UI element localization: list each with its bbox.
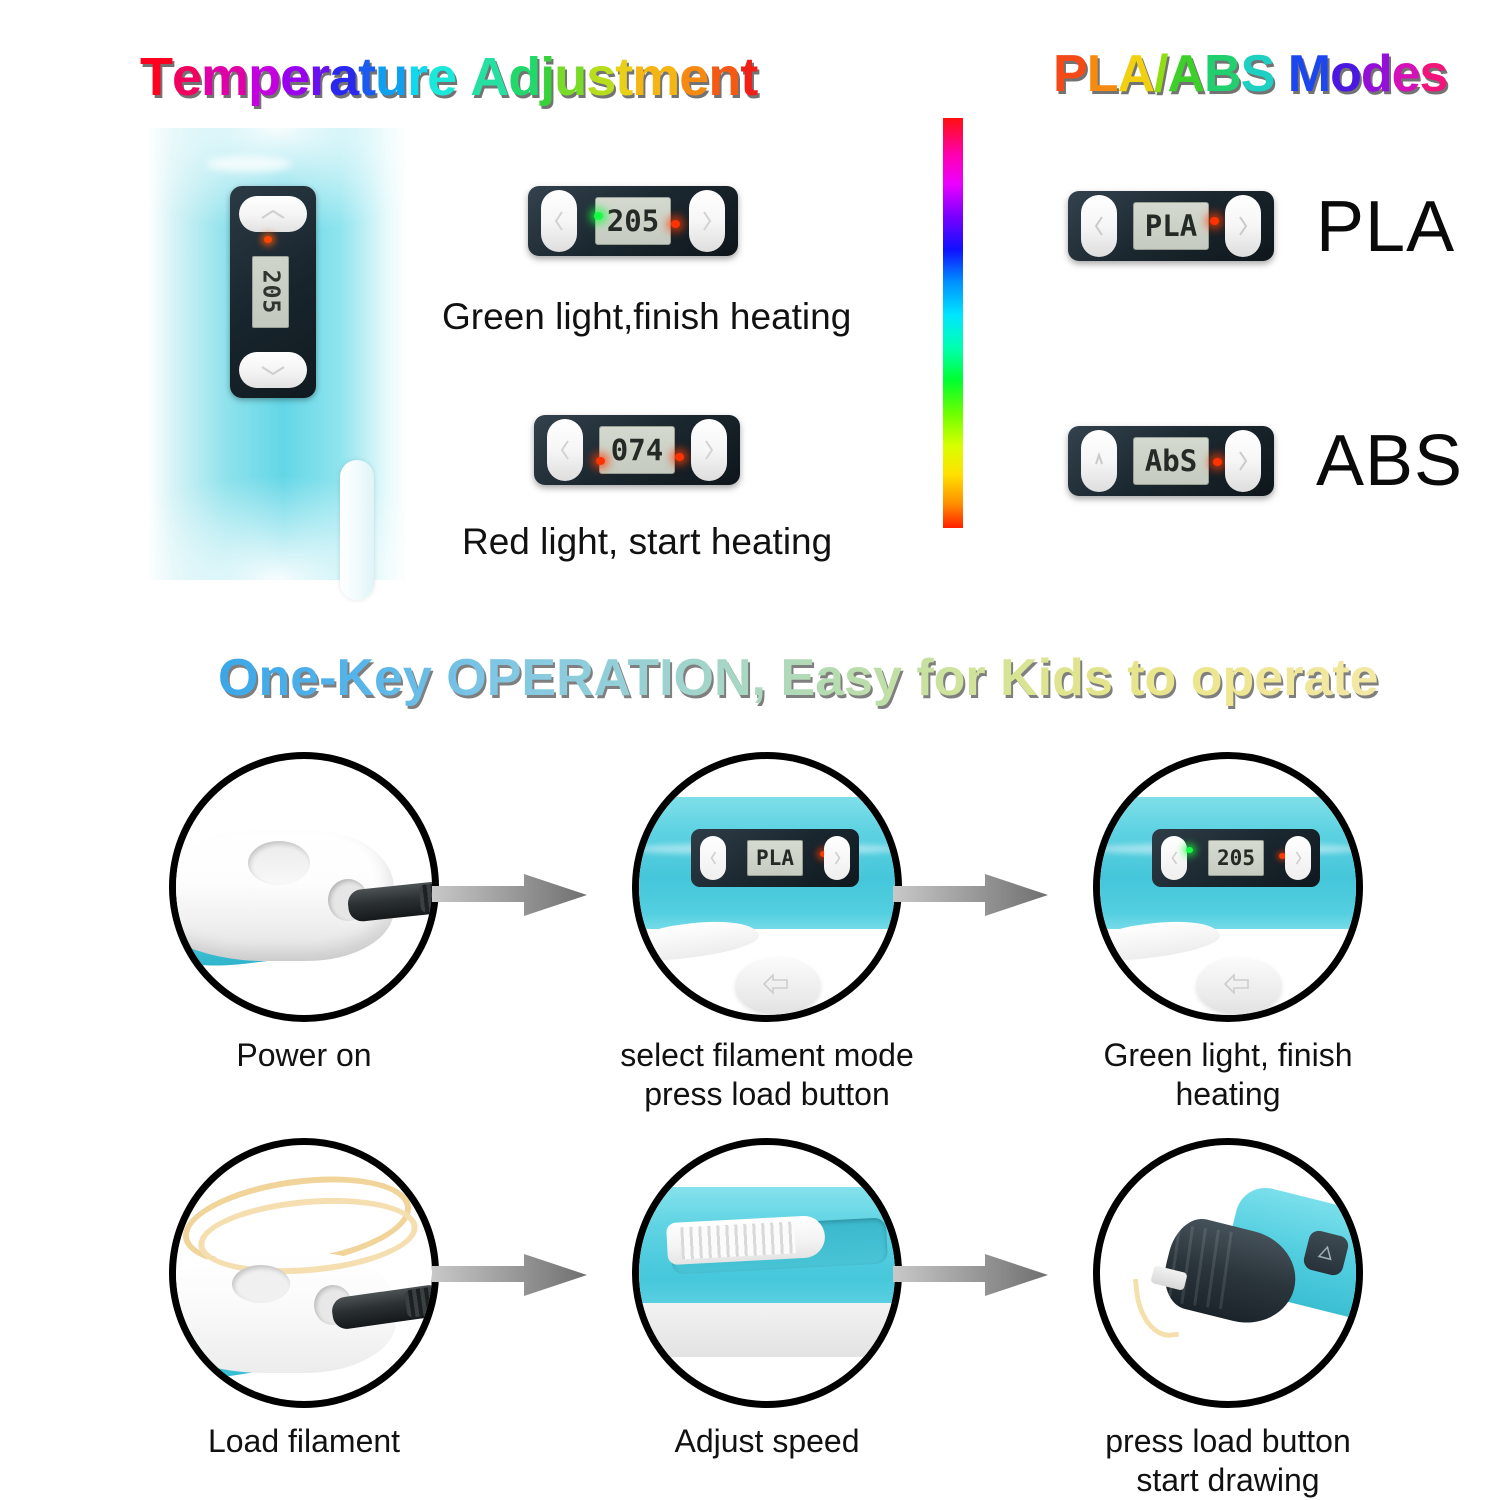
lcd-value-abs: AbS [1133,437,1209,485]
led-red-074-left [596,457,605,465]
temp-down-button[interactable] [239,352,307,388]
title-letter: A [1117,48,1154,100]
chevron-up-icon [260,208,286,221]
hero-control-panel: 205 [230,186,316,398]
pen-dimple [232,1265,290,1303]
load-button-left[interactable] [541,190,577,252]
pen-control-panel: PLA [691,829,859,887]
step-2-image: PLA [632,752,902,1022]
title-letter [1274,48,1287,100]
chevron-right-icon [833,850,842,866]
title-letter: e [427,50,456,104]
step-6-caption: press load button start drawing [1078,1422,1378,1500]
lcd-value-pla: PLA [1133,202,1209,250]
step-3-caption: Green light, finish heating [1078,1036,1378,1114]
lcd-panel-074: 074 [534,415,740,485]
flow-arrow-4 [893,1252,1048,1298]
led-red-074-right [675,453,684,461]
load-button[interactable] [735,957,821,1015]
title-letter: A [1167,48,1204,100]
flow-arrow-3 [432,1252,587,1298]
pen-white-underside [632,1303,902,1357]
title-letter: u [375,50,407,104]
hero-lcd-value: 205 [258,270,284,315]
title-letter: p [248,50,280,104]
hero-lcd-screen: 205 [252,256,289,328]
step-1-image [169,752,439,1022]
title-letter: S [1241,48,1275,100]
infographic-page: Temperature Adjustment PLA/ABS Modes 205 [0,0,1500,1500]
title-letter: A [470,50,508,104]
step-6-image [1093,1138,1363,1408]
title-letter: e [280,50,309,104]
load-arrow-icon [1218,971,1260,1001]
hero-side-button [340,460,374,600]
lcd-value-step2: PLA [747,840,803,876]
step-2-caption: select filament mode press load button [617,1036,917,1114]
title-letter: B [1204,48,1241,100]
caption-red-light: Red light, start heating [462,521,832,563]
pen-control-panel: 205 [1152,829,1320,887]
caption-green-light: Green light,finish heating [442,296,851,338]
temp-up-button[interactable] [239,196,307,232]
lcd-value-step3: 205 [1208,840,1264,876]
mode-next-button[interactable] [824,836,850,880]
step-3-image: 205 [1093,752,1363,1022]
title-letter: t [358,50,375,104]
flow-arrow-2 [893,872,1048,918]
step-4-image [169,1138,439,1408]
operation-section-title: One-Key OPERATION, Easy for Kids to oper… [218,648,1379,708]
step-start-drawing: press load button start drawing [1078,1138,1378,1500]
status-led-red [264,236,272,243]
chevron-right-icon [1237,215,1249,237]
title-letter: a [329,50,358,104]
mode-label-pla: PLA [1316,186,1455,268]
extruded-filament [1133,1275,1179,1341]
title-letter: e [172,50,201,104]
title-letter [456,50,470,104]
load-arrow-icon [757,971,799,1001]
chevron-left-icon [1093,215,1105,237]
title-letter: t [740,50,757,104]
title-letter: t [615,50,632,104]
title-letter: o [1330,48,1361,100]
load-button-left[interactable] [547,419,583,481]
title-letter: e [679,50,708,104]
chevron-up-icon [1093,450,1105,472]
load-button[interactable] [1196,957,1282,1015]
chevron-left-icon [709,850,718,866]
mode-prev-button[interactable] [1081,195,1117,257]
load-button-left[interactable] [1161,836,1187,880]
step-4-caption: Load filament [154,1422,454,1461]
title-letter: m [201,50,248,104]
led-green-205 [594,212,603,220]
speed-slider-handle[interactable] [666,1215,826,1265]
title-letter: s [1420,48,1448,100]
step-1-caption: Power on [154,1036,454,1075]
step-green-light: 205 Green light, finish heating [1078,752,1378,1114]
chevron-left-icon [559,439,571,461]
step-5-caption: Adjust speed [617,1422,917,1461]
title-letter: s [586,50,615,104]
chevron-down-icon [260,364,286,377]
title-letter: u [554,50,586,104]
title-letter: / [1154,48,1167,100]
title-letter: d [508,50,540,104]
lcd-value-074: 074 [599,426,675,474]
unload-button-right[interactable] [691,419,727,481]
title-letter: L [1087,48,1118,100]
lcd-panel-205: 205 [528,186,738,256]
title-letter: m [632,50,679,104]
step-5-image [632,1138,902,1408]
title-letter: T [140,50,172,104]
flow-arrow-1 [432,872,587,918]
temperature-section-title: Temperature Adjustment [140,50,757,104]
hero-highlight [206,156,292,172]
mode-next-button[interactable] [1225,195,1261,257]
led-red-205 [671,220,680,228]
title-letter: d [1361,48,1392,100]
chevron-right-icon [703,439,715,461]
step-load-filament: Load filament [154,1138,454,1461]
unload-button-right[interactable] [689,190,725,252]
chevron-left-icon [553,210,565,232]
unload-button-right[interactable] [1285,836,1311,880]
title-letter: n [708,50,740,104]
rainbow-divider-bar [943,118,963,528]
mode-prev-button[interactable] [700,836,726,880]
step-adjust-speed: Adjust speed [617,1138,917,1461]
chevron-right-icon [701,210,713,232]
mode-prev-button[interactable] [1081,430,1117,492]
title-letter: r [407,50,427,104]
lcd-panel-pla: PLA [1068,191,1274,261]
step-select-mode: PLA select filament mode press load but [617,752,917,1114]
led-red-pla [1210,217,1219,225]
title-letter: e [1392,48,1420,100]
chevron-right-icon [1237,450,1249,472]
mode-label-abs: ABS [1316,420,1463,502]
title-letter: j [540,50,554,104]
chevron-right-icon [1294,850,1303,866]
title-letter: M [1288,48,1330,100]
title-letter: P [1053,48,1087,100]
title-letter: r [309,50,329,104]
load-arrow-icon [1314,1241,1338,1265]
led-red-abs [1213,458,1222,466]
lcd-value-205: 205 [595,197,671,245]
step-power-on: Power on [154,752,454,1075]
hero-pen-photo: 205 [148,128,408,580]
chevron-left-icon [1170,850,1179,866]
pen-dimple [248,841,310,885]
modes-section-title: PLA/ABS Modes [1053,48,1447,100]
led-green-step3 [1186,847,1193,853]
lcd-panel-abs: AbS [1068,426,1274,496]
mode-next-button[interactable] [1225,430,1261,492]
